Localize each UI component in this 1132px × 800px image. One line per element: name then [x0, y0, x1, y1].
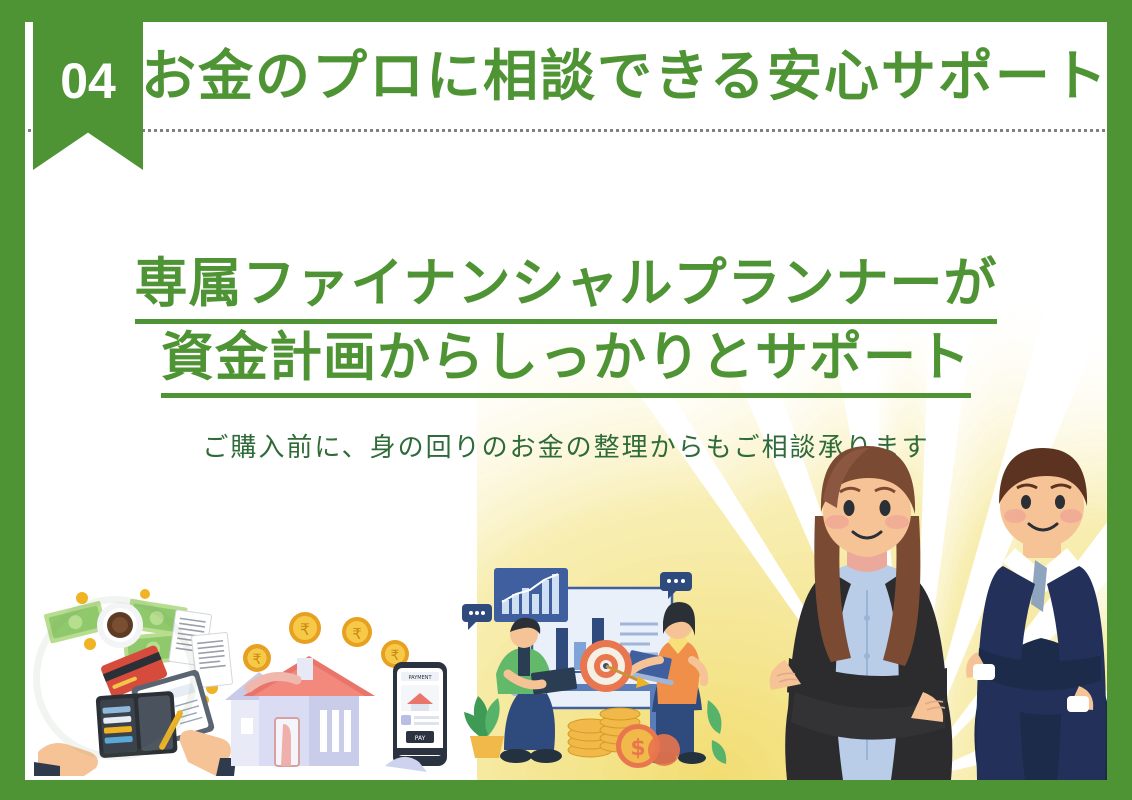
- circular-watermark: [33, 596, 197, 760]
- plant-icon: [464, 696, 504, 758]
- slide-root: 04 お金のプロに相談できる安心サポート 専属ファイナンシャルプランナーが 資金…: [0, 0, 1132, 800]
- ribbon-number: 04: [33, 56, 143, 106]
- headline-block: 専属ファイナンシャルプランナーが 資金計画からしっかりとサポート: [25, 250, 1107, 398]
- businesswoman: [770, 446, 953, 780]
- financial-planner-duo: [727, 420, 1107, 780]
- businessman: [966, 448, 1107, 780]
- headline-line-1: 専属ファイナンシャルプランナーが: [135, 250, 998, 324]
- smartphone-payment-icon: PAYMENT PAY: [393, 662, 447, 766]
- office-analytics-illustration: $: [460, 550, 730, 780]
- headline-line-1-wrap: 専属ファイナンシャルプランナーが: [25, 250, 1107, 324]
- header-dotted-divider: [25, 129, 1107, 132]
- page-title: お金のプロに相談できる安心サポート: [141, 44, 1107, 108]
- house-payment-illustration: ₹ ₹ ₹ ₹: [225, 600, 475, 780]
- leaf-decor-icon: [707, 700, 726, 764]
- svg-text:$: $: [630, 736, 645, 761]
- svg-text:PAY: PAY: [415, 735, 426, 742]
- rupee-coins-icon: ₹ ₹ ₹ ₹: [243, 612, 409, 672]
- headline-line-2: 資金計画からしっかりとサポート: [161, 324, 971, 398]
- content-panel: 04 お金のプロに相談できる安心サポート 専属ファイナンシャルプランナーが 資金…: [25, 22, 1107, 780]
- svg-text:₹: ₹: [253, 652, 262, 668]
- svg-text:₹: ₹: [300, 620, 310, 639]
- svg-text:₹: ₹: [391, 648, 400, 664]
- headline-line-2-wrap: 資金計画からしっかりとサポート: [25, 324, 1107, 398]
- svg-text:PAYMENT: PAYMENT: [408, 675, 432, 681]
- header: 04 お金のプロに相談できる安心サポート: [25, 22, 1107, 152]
- house-icon: [243, 656, 375, 766]
- svg-text:₹: ₹: [352, 625, 362, 643]
